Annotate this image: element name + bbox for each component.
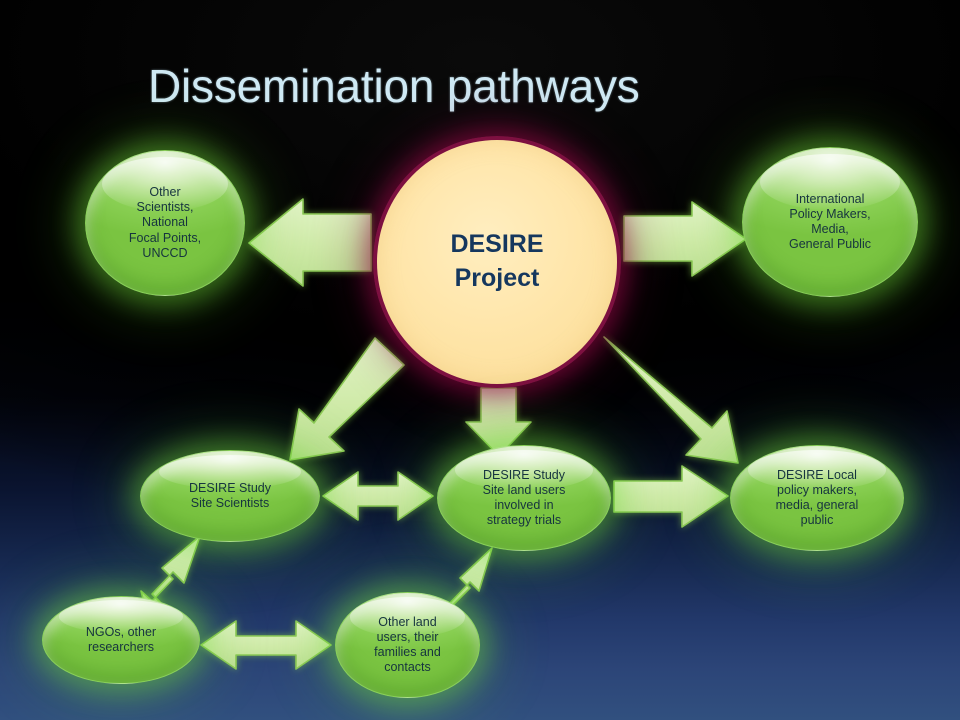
node-desire-local-policy-makers[interactable]: DESIRE Local policy makers, media, gener… [730, 445, 904, 551]
arrow-center-to-site-scientists [290, 338, 404, 460]
arrow-land-users-to-local-policy [614, 466, 728, 527]
node-other-land-users[interactable]: Other land users, their families and con… [335, 592, 480, 698]
arrow-center-to-local-policy [604, 337, 738, 463]
arrow-site-scientists-to-land-users [323, 472, 433, 520]
node-desire-study-site-scientists-label: DESIRE Study Site Scientists [180, 481, 280, 512]
node-other-scientists[interactable]: Other Scientists, National Focal Points,… [85, 150, 245, 296]
arrow-center-to-other-scientists [249, 199, 371, 286]
node-international-policy-makers-label: International Policy Makers, Media, Gene… [780, 192, 880, 253]
slide-canvas: Dissemination pathways [0, 0, 960, 720]
node-ngos-other-researchers[interactable]: NGOs, other researchers [42, 596, 200, 684]
node-desire-project[interactable]: DESIRE Project [373, 136, 621, 388]
node-other-scientists-label: Other Scientists, National Focal Points,… [120, 185, 210, 261]
arrow-center-to-intl-policy [624, 202, 746, 276]
node-ngos-other-researchers-label: NGOs, other researchers [77, 625, 165, 656]
node-desire-project-label: DESIRE Project [441, 228, 552, 296]
arrow-ngos-to-other-land-users [201, 621, 331, 669]
node-desire-local-policy-makers-label: DESIRE Local policy makers, media, gener… [767, 468, 868, 529]
node-desire-study-site-land-users-label: DESIRE Study Site land users involved in… [474, 468, 575, 529]
node-international-policy-makers[interactable]: International Policy Makers, Media, Gene… [742, 147, 918, 297]
node-other-land-users-label: Other land users, their families and con… [365, 615, 450, 676]
node-desire-study-site-scientists[interactable]: DESIRE Study Site Scientists [140, 450, 320, 542]
node-desire-study-site-land-users[interactable]: DESIRE Study Site land users involved in… [437, 445, 611, 551]
